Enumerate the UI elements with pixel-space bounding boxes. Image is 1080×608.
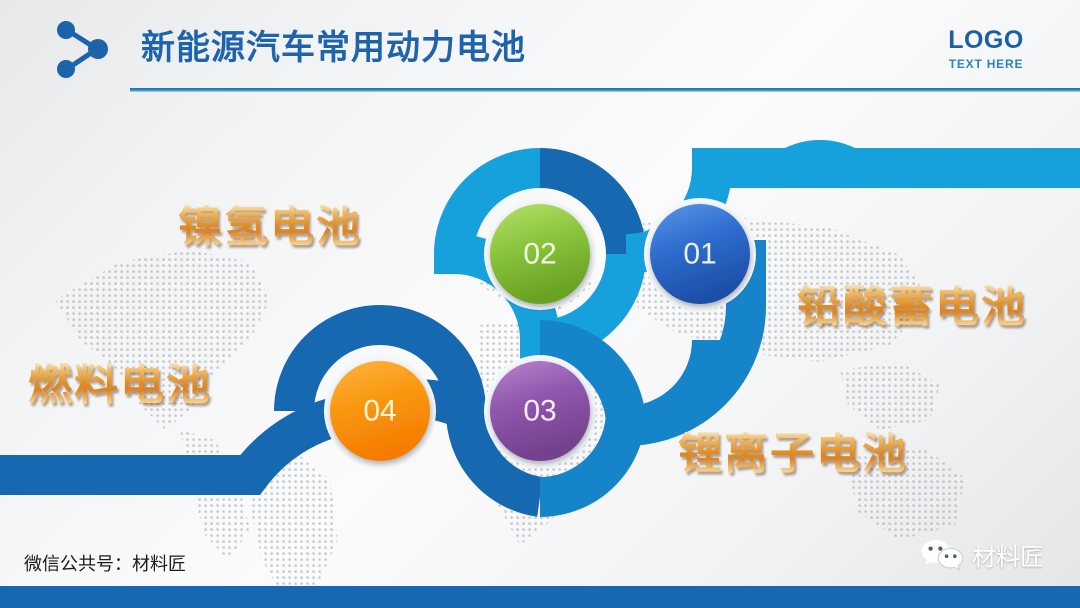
slide-canvas: 新能源汽车常用动力电池 LOGO TEXT HERE <box>0 0 1080 608</box>
step-number-01: 01 <box>683 238 716 271</box>
step-number-02: 02 <box>523 238 556 271</box>
step-node-03[interactable]: 03 <box>490 361 590 461</box>
step-label-04: 燃料电池 <box>28 363 212 407</box>
step-node-04[interactable]: 04 <box>330 361 430 461</box>
footer-accent-bar <box>0 586 1080 608</box>
step-node-01[interactable]: 01 <box>650 204 750 304</box>
step-label-01: 铅酸蓄电池 <box>797 285 1027 329</box>
step-label-02: 镍氢电池 <box>178 205 362 249</box>
wechat-account-name: 材料匠 <box>972 537 1044 572</box>
step-node-02[interactable]: 02 <box>490 204 590 304</box>
step-label-03: 锂离子电池 <box>678 432 908 476</box>
wechat-badge: 材料匠 <box>920 537 1044 572</box>
wechat-icon <box>920 538 964 572</box>
step-number-03: 03 <box>523 395 556 428</box>
step-number-04: 04 <box>363 395 396 428</box>
footer-note: 微信公共号：材料匠 <box>24 550 186 576</box>
